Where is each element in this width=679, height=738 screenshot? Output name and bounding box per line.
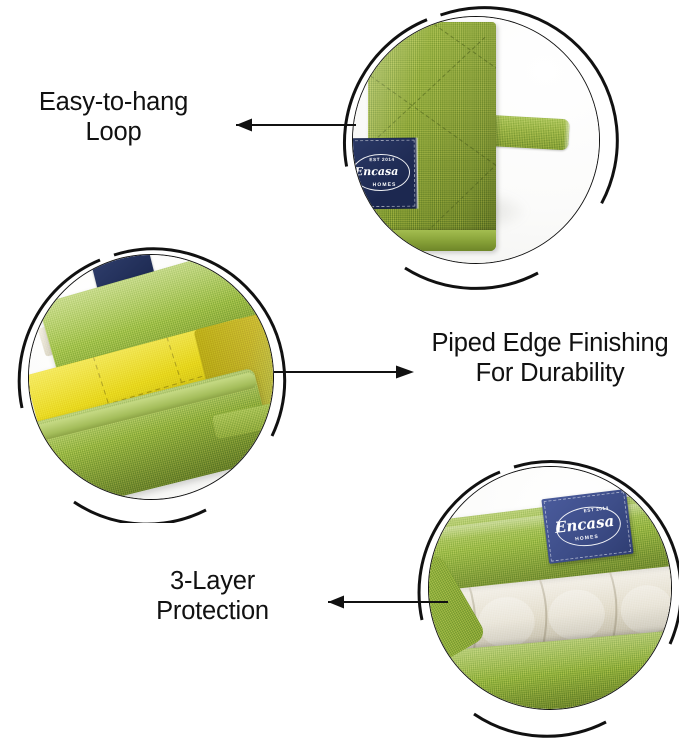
arrow-to-three-layer-protection <box>310 588 450 616</box>
hanging-loop <box>483 114 571 150</box>
callout-three-layer-protection: EST 2014 Encasa HOMES <box>412 448 679 738</box>
label-three-layer-protection: 3-Layer Protection <box>120 567 305 626</box>
infographic-canvas: EST 2014 Encasa HOMES Easy-to-hang Loop <box>0 0 679 738</box>
brand-logo-est: EST 2014 <box>370 156 395 161</box>
brand-logo-sub: HOMES <box>373 182 397 188</box>
photo-easy-to-hang-loop: EST 2014 Encasa HOMES <box>352 16 600 264</box>
arrow-to-piped-edge-finishing <box>272 358 417 386</box>
callout-easy-to-hang-loop: EST 2014 Encasa HOMES <box>330 0 620 290</box>
brand-logo-word: Encasa <box>355 164 399 177</box>
label-piped-edge-finishing: Piped Edge Finishing For Durability <box>415 329 679 388</box>
brand-tag-encasa: EST 2014 Encasa HOMES <box>541 489 633 564</box>
pot-holder-body <box>368 22 496 251</box>
photo-three-layer-protection: EST 2014 Encasa HOMES <box>428 466 672 710</box>
photo-piped-edge-finishing <box>28 254 274 500</box>
quilt-stitch-lines <box>368 22 496 251</box>
label-easy-to-hang-loop: Easy-to-hang Loop <box>16 88 211 147</box>
callout-piped-edge-finishing <box>10 238 290 523</box>
arrow-to-easy-to-hang-loop <box>210 110 360 140</box>
brand-tag-navy: EST 2014 Encasa HOMES <box>352 137 417 209</box>
